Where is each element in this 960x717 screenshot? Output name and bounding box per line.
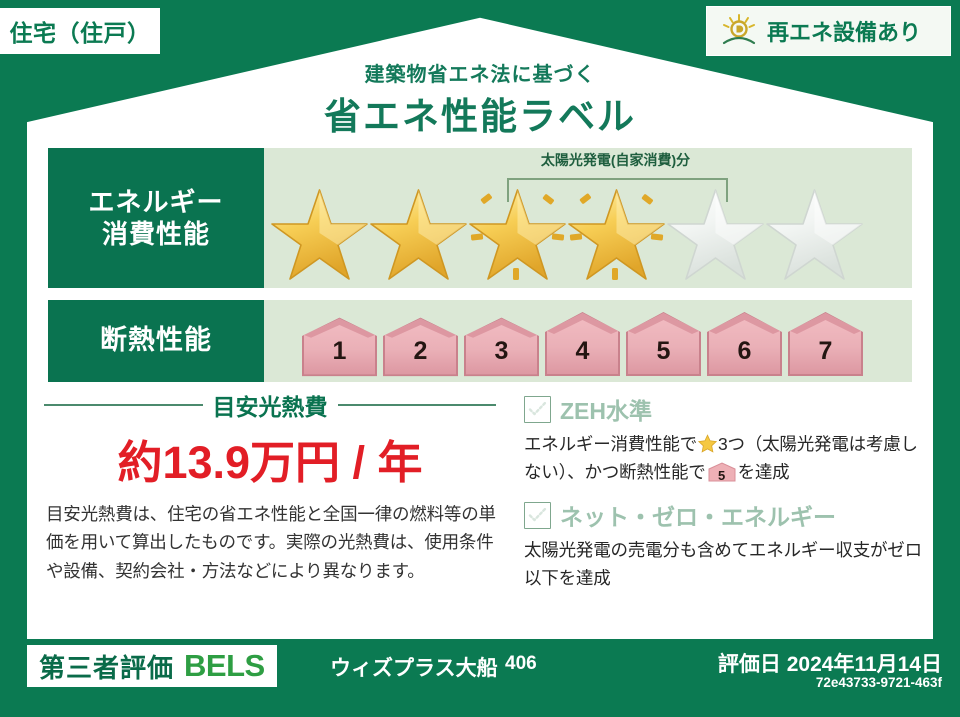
utility-cost-note: 目安光熱費は、住宅の省エネ性能と全国一律の燃料等の単価を用いて算出したものです。… xyxy=(46,500,498,585)
inline-house-badge-icon: 5 xyxy=(708,462,736,482)
insulation-grade-house: 5 xyxy=(624,308,703,378)
renewable-badge-label: 再エネ設備あり xyxy=(767,15,921,47)
building-name: ウィズプラス大船 xyxy=(330,652,498,682)
insulation-grade-number: 1 xyxy=(300,337,379,366)
insulation-grade-house: 3 xyxy=(462,314,541,378)
insulation-grade-number: 5 xyxy=(624,337,703,366)
evaluation-id: 72e43733-9721-463f xyxy=(816,675,942,690)
criterion-nze-header: ネット・ゼロ・エネルギー xyxy=(524,498,924,532)
energy-rating-area: 太陽光発電(自家消費)分 xyxy=(264,148,912,288)
energy-star-filled xyxy=(567,176,666,284)
insulation-grade-house: 2 xyxy=(381,314,460,378)
building-unit-number: 406 xyxy=(505,653,537,675)
energy-star-filled xyxy=(369,176,468,284)
sun-icon xyxy=(719,13,759,49)
criterion-zeh-title: ZEH水準 xyxy=(560,392,652,426)
energy-star-filled xyxy=(270,176,369,284)
insulation-rating-area: 1 2 xyxy=(264,300,912,382)
insulation-grade-house: 7 xyxy=(786,308,865,378)
energy-star-empty xyxy=(666,176,765,284)
insulation-grade-scale: 1 2 xyxy=(264,300,912,382)
heading-rule-left xyxy=(44,404,203,406)
energy-star-filled xyxy=(468,176,567,284)
checkbox-unchecked-icon xyxy=(524,396,551,423)
criterion-nze-title: ネット・ゼロ・エネルギー xyxy=(560,498,836,532)
energy-star-empty xyxy=(765,176,864,284)
label-root: 住宅（住戸） 再エネ設備あり 建築物省エネ法に基づく 省エネ性能ラベル xyxy=(0,0,960,717)
insulation-grade-number: 6 xyxy=(705,337,784,366)
criterion-nze-body: 太陽光発電の売電分も含めてエネルギー収支がゼロ以下を達成 xyxy=(524,536,924,593)
utility-cost-heading: 目安光熱費 xyxy=(44,392,496,418)
insulation-grade-number: 7 xyxy=(786,337,865,366)
insulation-grade-number: 4 xyxy=(543,337,622,366)
criterion-zeh-text-post: を達成 xyxy=(738,462,790,482)
bels-logo-en: BELS xyxy=(184,648,265,684)
solar-bracket-caption: 太陽光発電(自家消費)分 xyxy=(507,150,724,170)
criterion-zeh-body: エネルギー消費性能で 3つ（太陽光発電は考慮しない）、かつ断熱性能で 5を達成 xyxy=(524,430,924,487)
criterion-zeh: ZEH水準 エネルギー消費性能で 3つ（太陽光発電は考慮しない）、かつ断熱性能で… xyxy=(524,392,924,487)
criterion-net-zero-energy: ネット・ゼロ・エネルギー 太陽光発電の売電分も含めてエネルギー収支がゼロ以下を達… xyxy=(524,498,924,593)
insulation-performance-label: 断熱性能 xyxy=(48,300,264,382)
bels-logo-jp: 第三者評価 xyxy=(39,648,174,685)
title-subtitle: 建築物省エネ法に基づく xyxy=(0,58,960,87)
insulation-grade-number: 3 xyxy=(462,337,541,366)
utility-cost-heading-text: 目安光熱費 xyxy=(213,388,328,422)
insulation-grade-house: 6 xyxy=(705,308,784,378)
page-title: 省エネ性能ラベル xyxy=(0,86,960,140)
energy-label-line2: 消費性能 xyxy=(102,218,210,251)
utility-cost-value: 約13.9万円 / 年 xyxy=(44,426,496,491)
energy-performance-label: エネルギー 消費性能 xyxy=(48,148,264,288)
energy-star-rating xyxy=(264,176,912,284)
insulation-grade-house: 4 xyxy=(543,308,622,378)
dwelling-type-tag: 住宅（住戸） xyxy=(0,8,160,54)
heading-rule-right xyxy=(338,404,497,406)
inline-star-icon xyxy=(698,433,717,452)
criterion-zeh-text-pre: エネルギー消費性能で xyxy=(524,434,697,454)
insulation-grade-house: 1 xyxy=(300,314,379,378)
energy-label-line1: エネルギー xyxy=(88,186,223,219)
insulation-grade-number: 2 xyxy=(381,337,460,366)
insulation-label-text: 断熱性能 xyxy=(100,324,212,358)
energy-performance-row: エネルギー 消費性能 太陽光発電(自家消費)分 xyxy=(48,148,912,288)
criterion-zeh-header: ZEH水準 xyxy=(524,392,924,426)
bels-logo: 第三者評価 BELS xyxy=(27,645,277,687)
checkbox-unchecked-icon xyxy=(524,502,551,529)
inline-house-badge-value: 5 xyxy=(708,465,736,486)
evaluation-date: 評価日 2024年11月14日 xyxy=(718,648,942,678)
dwelling-type-label: 住宅（住戸） xyxy=(10,14,151,48)
renewable-equipment-badge: 再エネ設備あり xyxy=(706,6,951,56)
insulation-performance-row: 断熱性能 1 xyxy=(48,300,912,382)
